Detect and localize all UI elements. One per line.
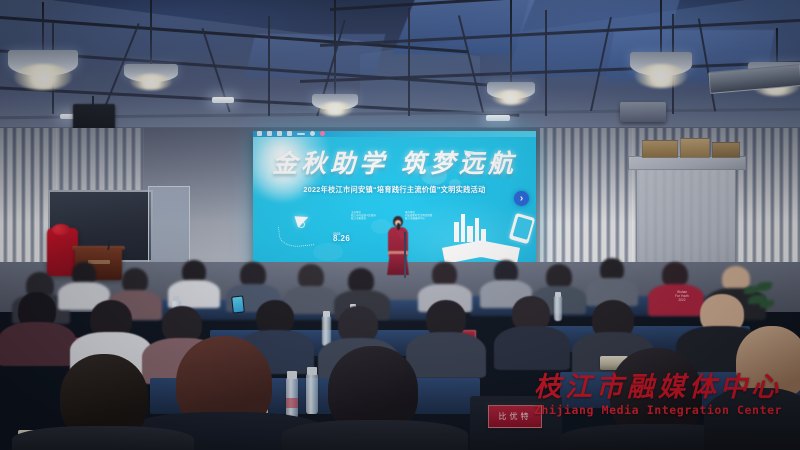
wood-crate — [712, 142, 740, 158]
screen-subtitle: 2022年枝江市问安镇“培育践行主流价值”文明实践活动 — [257, 185, 532, 194]
city-skyline-icon — [454, 222, 459, 242]
icon-square — [287, 131, 292, 136]
city-skyline-icon — [467, 226, 473, 242]
red-ribbon-bow — [52, 224, 70, 235]
water-bottle — [306, 374, 318, 414]
microphone-icon — [397, 223, 400, 230]
chevron-right-icon: › — [514, 191, 529, 206]
bottle-label — [286, 398, 298, 408]
red-shirt-print: Wuhan For Youth 2022 — [668, 290, 696, 302]
screen-date: 8.26 — [333, 234, 350, 243]
pendant-lamp — [312, 0, 358, 116]
truss-vertical — [268, 16, 270, 116]
audience-shoulders — [494, 326, 570, 370]
icon-bar — [297, 133, 305, 135]
ceiling-panel-light — [212, 97, 234, 103]
speaker-mount — [92, 96, 94, 108]
bottle-cap — [173, 296, 179, 301]
microphone-stand — [404, 232, 406, 278]
screen-status-icons — [257, 131, 325, 136]
smartphone-recording — [231, 295, 245, 313]
wall-beam-header — [628, 156, 746, 170]
decor-bubble — [313, 243, 343, 261]
seat-name-plate: 比优特 — [485, 402, 545, 431]
projector — [620, 102, 666, 122]
icon-circle — [310, 131, 315, 136]
pendant-lamp — [8, 2, 78, 98]
icon-square — [257, 131, 262, 136]
icon-square — [277, 131, 282, 136]
screen-organizer-text-left: 主办单位 枝江市问安镇人民政府 枝江市教育局 — [351, 211, 379, 221]
ceiling-panel-light — [486, 115, 510, 121]
city-skyline-icon — [461, 214, 465, 242]
icon-square — [267, 131, 272, 136]
truss-vertical — [545, 10, 547, 116]
audience-shoulders-foreground — [12, 426, 194, 450]
plant-leaf — [756, 282, 772, 291]
water-bottle — [554, 296, 562, 321]
bottle-cap — [287, 371, 297, 379]
open-book-icon — [442, 206, 520, 264]
audience-shoulders-foreground — [704, 388, 800, 450]
screen-main-title: 金秋助学 筑梦远航 — [261, 149, 528, 179]
glass-partition — [148, 186, 190, 266]
seat-name-card: 比优特 — [488, 405, 542, 428]
audience-shoulders — [0, 322, 76, 366]
ceiling — [0, 0, 800, 142]
event-photo-scene: 金秋助学 筑梦远航 2022年枝江市问安镇“培育践行主流价值”文明实践活动 › … — [0, 0, 800, 450]
city-skyline-icon — [475, 218, 479, 242]
truss-vertical — [408, 8, 410, 116]
bottle-cap — [555, 292, 561, 297]
plant-leaf — [760, 300, 774, 308]
audience-shoulders — [406, 332, 486, 378]
bottle-cap — [307, 367, 317, 375]
plane-trail-dot — [298, 221, 305, 228]
presenter-host — [385, 216, 411, 274]
wood-crate — [642, 140, 678, 158]
icon-circle-pink — [320, 131, 325, 136]
audience-shoulders-foreground — [282, 420, 468, 450]
pendant-lamp — [124, 0, 178, 90]
pendant-lamp — [487, 0, 535, 104]
bottle-cap — [323, 311, 330, 317]
city-skyline-icon — [481, 229, 486, 242]
pendant-lamp — [630, 0, 692, 96]
potted-plant — [742, 282, 776, 316]
wood-crate — [680, 138, 710, 158]
